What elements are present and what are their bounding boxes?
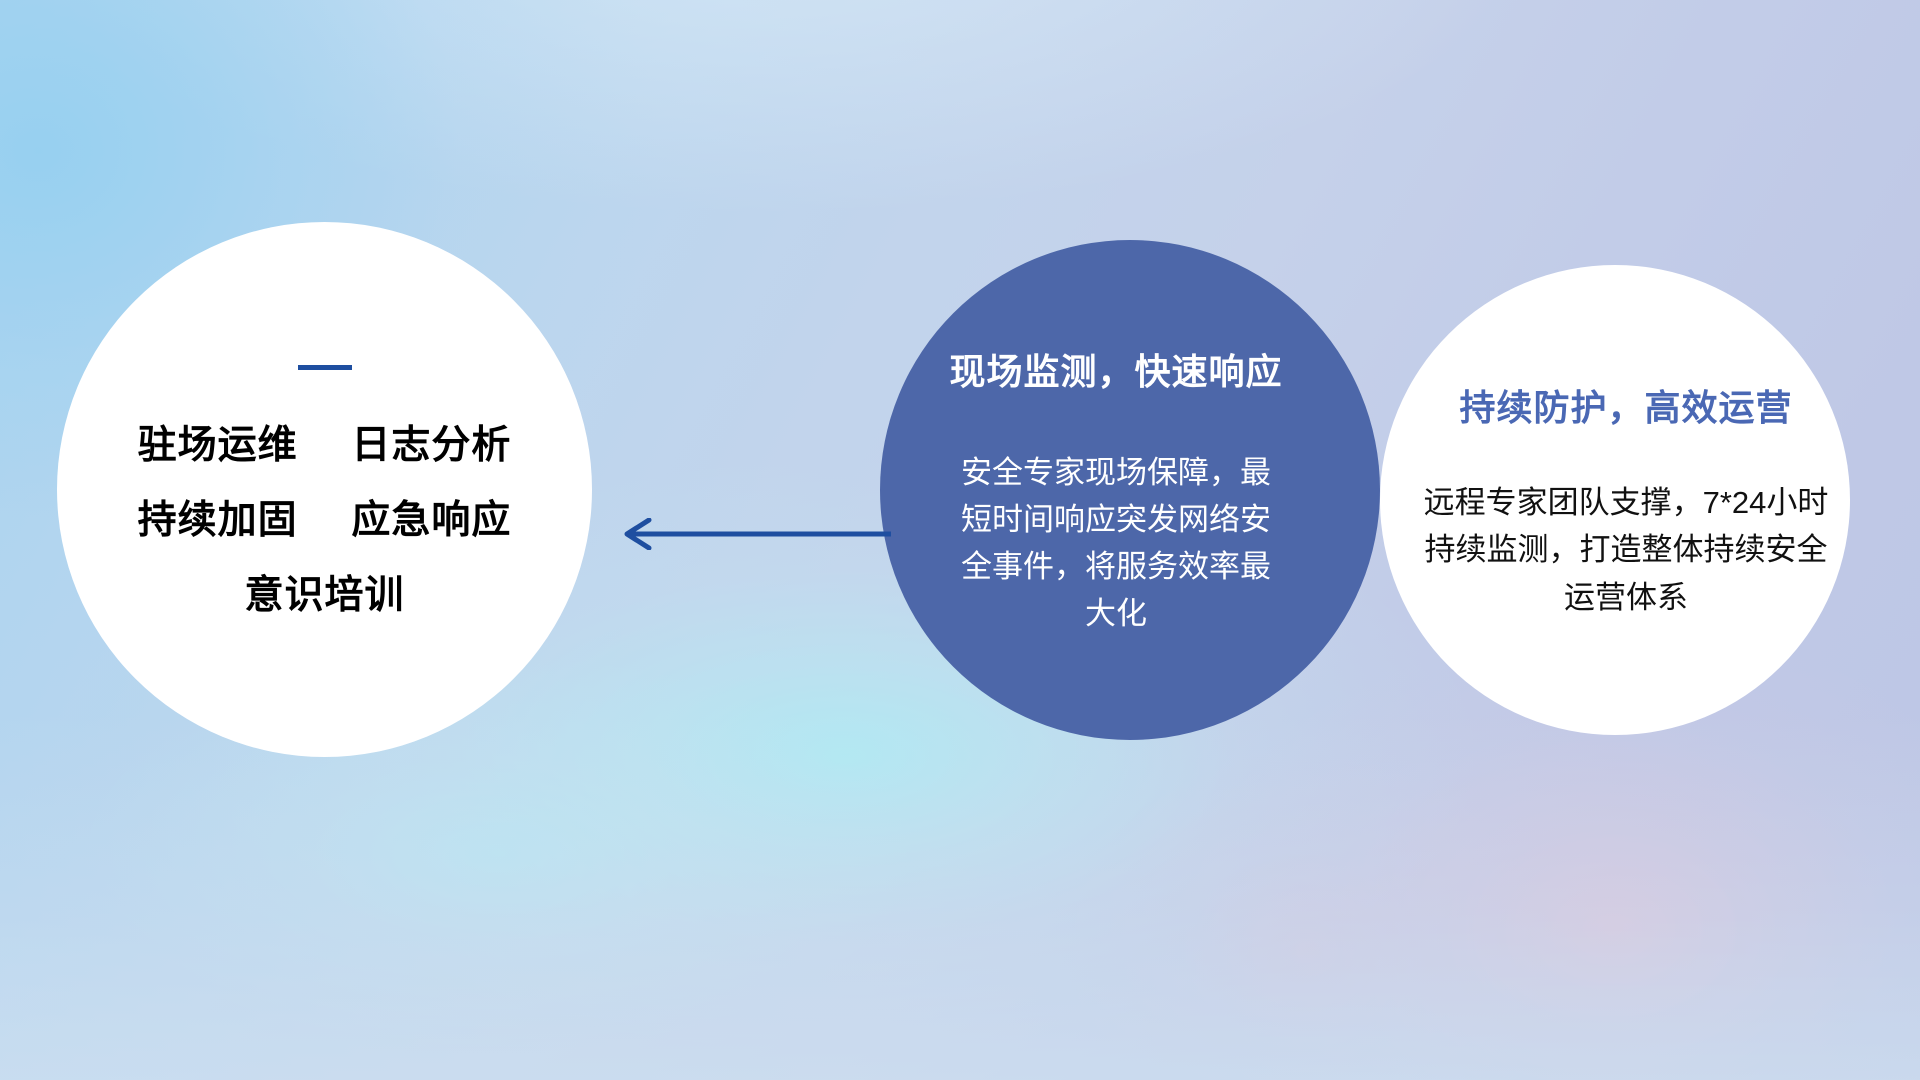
capability-row: 驻场运维 日志分析 (138, 426, 512, 465)
onsite-monitoring-body: 安全专家现场保障，最短时间响应突发网络安全事件，将服务效率最大化 (951, 449, 1281, 637)
continuous-protection-body: 远程专家团队支撑，7*24小时持续监测，打造整体持续安全运营体系 (1421, 479, 1831, 620)
capability-label: 日志分析 (351, 424, 511, 467)
capability-row: 意识培训 (244, 576, 404, 615)
onsite-monitoring-circle-content: 现场监测，快速响应 安全专家现场保障，最短时间响应突发网络安全事件，将服务效率最… (880, 240, 1380, 740)
slide-canvas: 驻场运维 日志分析 持续加固 应急响应 意识培训 现场监测，快速响应 安全专家现… (0, 0, 1920, 1080)
left-arrow-icon (605, 518, 895, 550)
continuous-protection-title: 持续防护，高效运营 (1459, 379, 1792, 431)
continuous-protection-circle-content: 持续防护，高效运营 远程专家团队支撑，7*24小时持续监测，打造整体持续安全运营… (1380, 265, 1850, 735)
capability-label: 驻场运维 (138, 424, 298, 467)
capabilities-circle-content: 驻场运维 日志分析 持续加固 应急响应 意识培训 (57, 222, 592, 757)
capability-label: 应急响应 (351, 499, 511, 542)
onsite-monitoring-title: 现场监测，快速响应 (949, 343, 1282, 395)
capability-label: 持续加固 (138, 499, 298, 542)
title-divider-rule (298, 365, 352, 370)
capability-label: 意识培训 (244, 574, 404, 617)
capability-row: 持续加固 应急响应 (138, 501, 512, 540)
